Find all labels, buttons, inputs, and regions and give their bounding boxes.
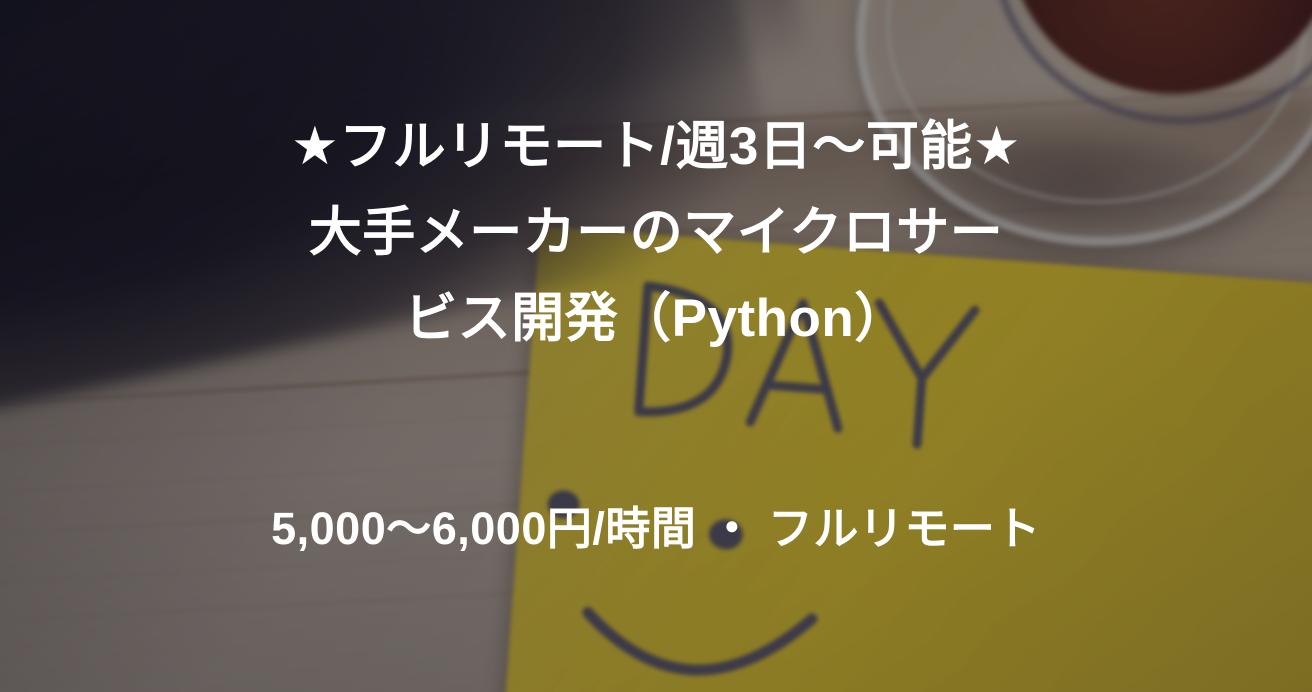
- banner-content: ★フルリモート/週3日〜可能★大手メーカーのマイクロサービス開発（Python）…: [0, 0, 1312, 692]
- hero-banner: ★フルリモート/週3日〜可能★大手メーカーのマイクロサービス開発（Python）…: [0, 0, 1312, 692]
- banner-title: ★フルリモート/週3日〜可能★大手メーカーのマイクロサービス開発（Python）: [291, 104, 1021, 362]
- banner-subtitle: 5,000〜6,000円/時間 ・ フルリモート: [271, 502, 1041, 556]
